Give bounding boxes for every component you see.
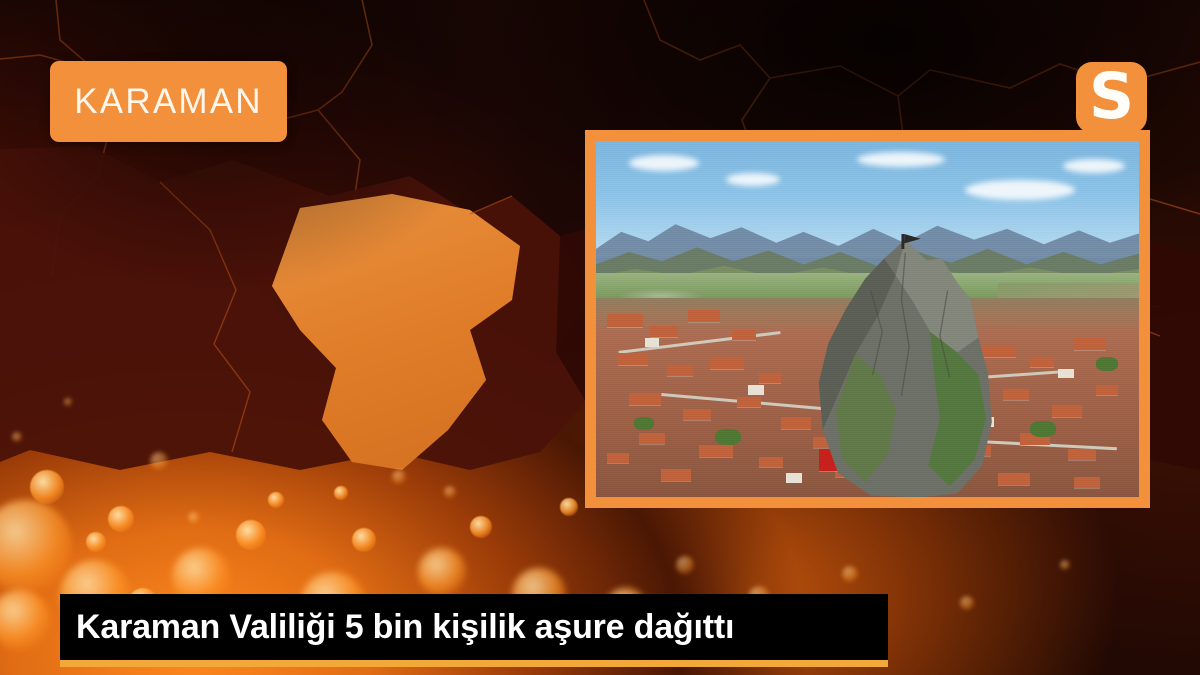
headline-underline	[60, 660, 888, 667]
s-logo-letter: S	[1089, 65, 1134, 128]
news-card: KARAMAN S	[0, 0, 1200, 675]
s-logo[interactable]: S	[1076, 62, 1147, 133]
photo-frame	[585, 130, 1150, 508]
location-badge-label: KARAMAN	[74, 84, 263, 119]
photo-grain	[596, 141, 1139, 497]
headline-bar: Karaman Valiliği 5 bin kişilik aşure dağ…	[60, 594, 888, 660]
headline-text: Karaman Valiliği 5 bin kişilik aşure dağ…	[60, 610, 734, 644]
location-badge: KARAMAN	[50, 61, 287, 142]
news-photo	[596, 141, 1139, 497]
